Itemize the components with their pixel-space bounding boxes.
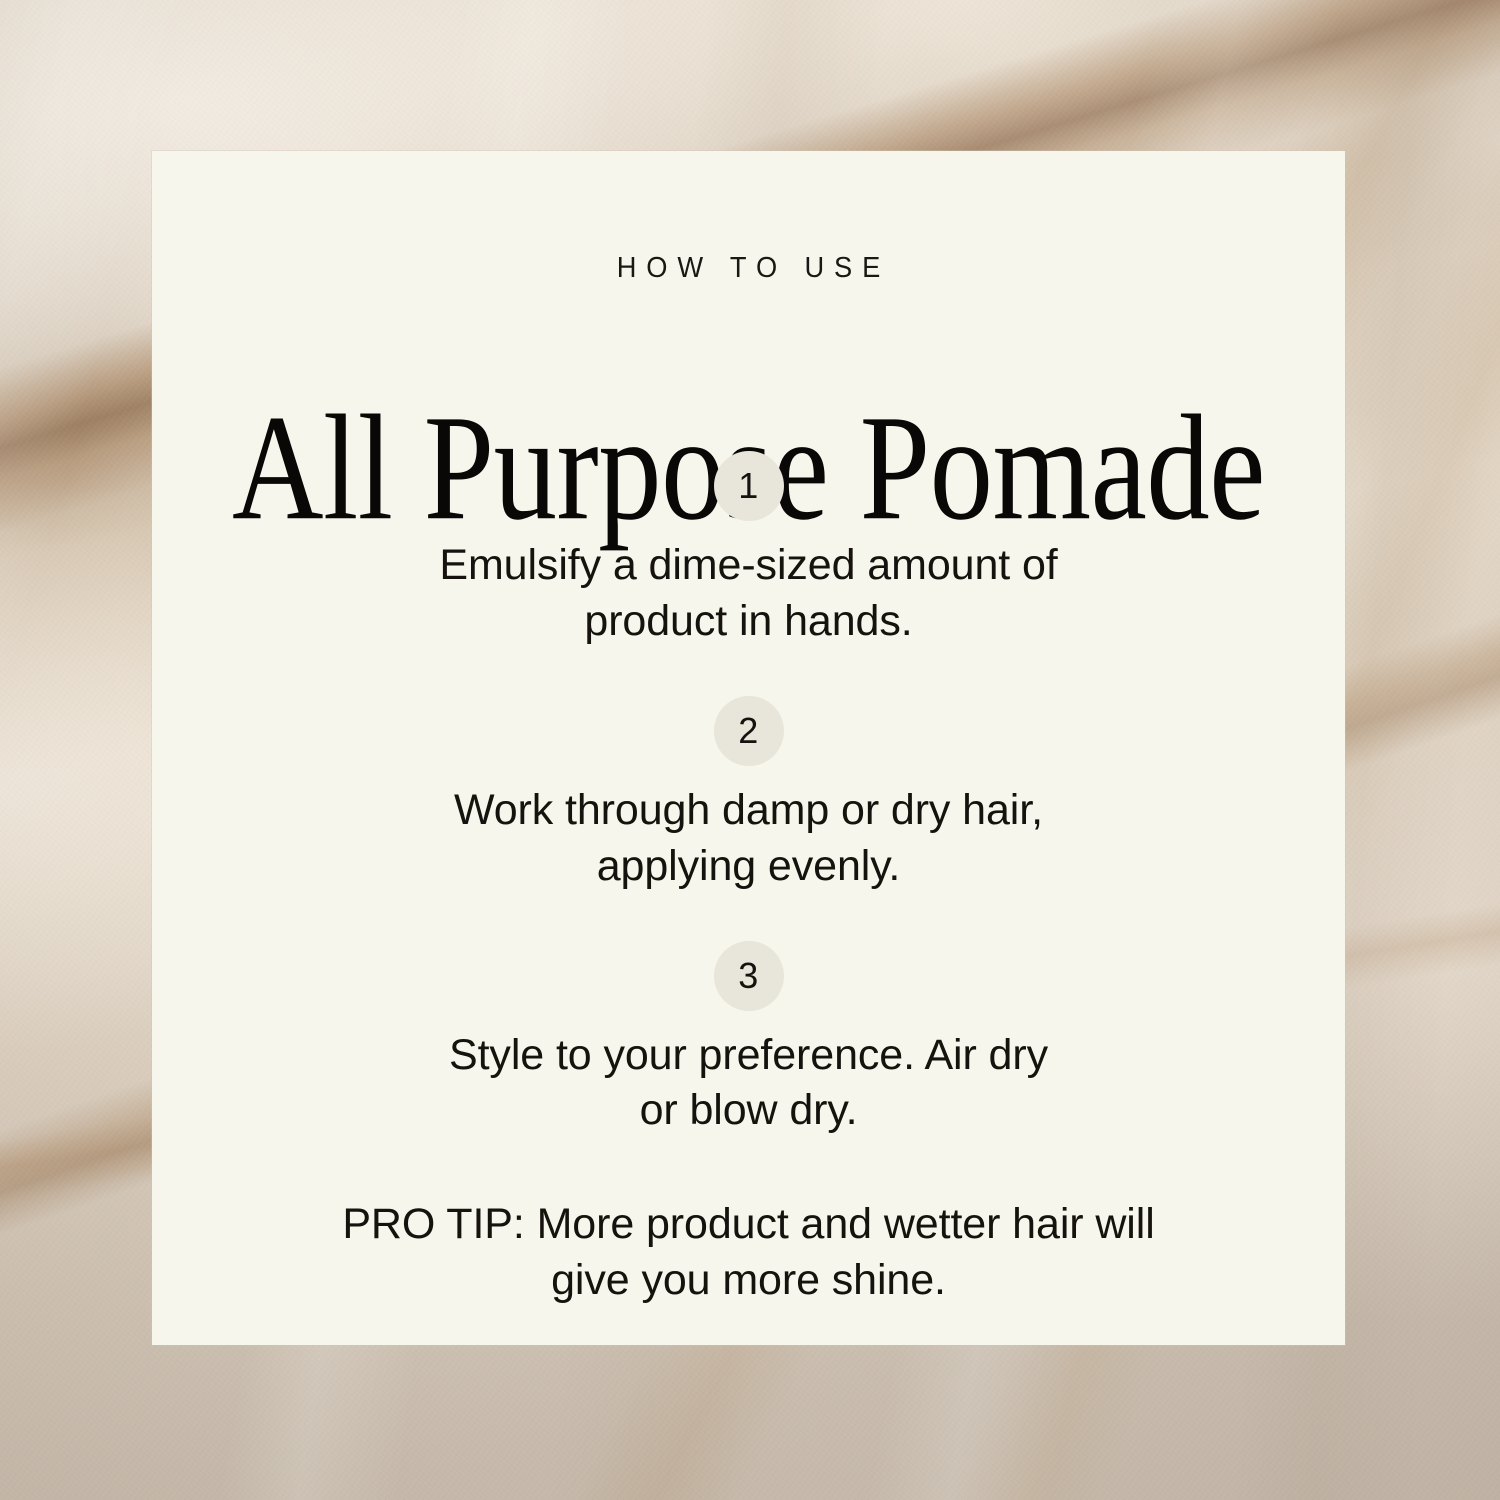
product-how-to-use-graphic: HOW TO USE All Purpose Pomade 1 Emulsify…: [0, 0, 1500, 1500]
step-description: Work through damp or dry hair, applying …: [344, 783, 1154, 895]
step-number-badge: 2: [714, 696, 784, 766]
step-description: Style to your preference. Air dry or blo…: [344, 1028, 1154, 1140]
eyebrow-label: HOW TO USE: [188, 254, 1309, 283]
step-item: 3 Style to your preference. Air dry or b…: [152, 941, 1345, 1140]
step-item: 1 Emulsify a dime-sized amount of produc…: [152, 451, 1345, 650]
step-number-badge: 3: [714, 941, 784, 1011]
steps-list: 1 Emulsify a dime-sized amount of produc…: [152, 451, 1345, 1309]
instruction-card: HOW TO USE All Purpose Pomade 1 Emulsify…: [152, 151, 1345, 1345]
step-number-badge: 1: [714, 451, 784, 521]
step-item: 2 Work through damp or dry hair, applyin…: [152, 696, 1345, 895]
pro-tip-text: PRO TIP: More product and wetter hair wi…: [244, 1197, 1254, 1309]
step-description: Emulsify a dime-sized amount of product …: [344, 538, 1154, 650]
